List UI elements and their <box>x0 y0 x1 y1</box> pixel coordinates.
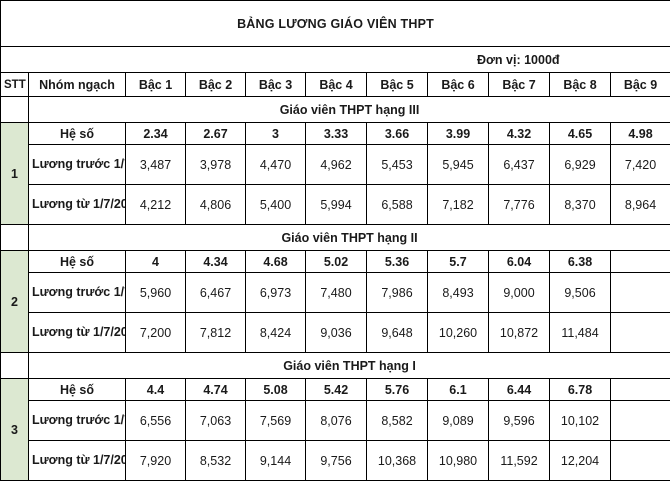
before-bac-7: 9,000 <box>489 273 550 313</box>
row-label-luong-truoc: Lương trước 1/7/2023 <box>29 273 126 313</box>
section-title-row: Giáo viên THPT hạng II <box>1 225 670 251</box>
section-title-row: Giáo viên THPT hạng III <box>1 97 670 123</box>
unit-spacer <box>1 47 367 73</box>
before-bac-5: 5,453 <box>367 145 428 185</box>
heso-bac-7: 4.32 <box>489 123 550 145</box>
heso-bac-5: 5.76 <box>367 379 428 401</box>
section-title-row: Giáo viên THPT hạng I <box>1 353 670 379</box>
from-bac-5: 6,588 <box>367 185 428 225</box>
salary-table-body: BẢNG LƯƠNG GIÁO VIÊN THPT Đơn vị: 1000đ … <box>1 1 670 481</box>
heso-bac-6: 6.1 <box>428 379 489 401</box>
row-label-luong-tu: Lương từ 1/7/2023 <box>29 313 126 353</box>
unit-row: Đơn vị: 1000đ <box>1 47 670 73</box>
from-bac-1: 4,212 <box>126 185 186 225</box>
table-row: Lương trước 1/7/2023 3,487 3,978 4,470 4… <box>1 145 670 185</box>
heso-bac-7: 6.44 <box>489 379 550 401</box>
heso-row: 1 Hệ số 2.34 2.67 3 3.33 3.66 3.99 4.32 … <box>1 123 670 145</box>
row-label-luong-tu: Lương từ 1/7/2023 <box>29 185 126 225</box>
from-bac-2: 4,806 <box>186 185 246 225</box>
heso-bac-6: 3.99 <box>428 123 489 145</box>
from-bac-7: 11,592 <box>489 441 550 481</box>
from-bac-8: 8,370 <box>550 185 611 225</box>
row-label-heso: Hệ số <box>29 379 126 401</box>
before-bac-4: 8,076 <box>306 401 367 441</box>
heso-bac-9: 4.98 <box>611 123 670 145</box>
before-bac-2: 7,063 <box>186 401 246 441</box>
unit-note: Đơn vị: 1000đ <box>367 47 670 73</box>
stt-spacer <box>1 353 29 379</box>
from-bac-2: 7,812 <box>186 313 246 353</box>
from-bac-2: 8,532 <box>186 441 246 481</box>
table-row: Lương từ 1/7/2023 4,212 4,806 5,400 5,99… <box>1 185 670 225</box>
heso-bac-8: 4.65 <box>550 123 611 145</box>
column-header-bac-9: Bậc 9 <box>611 73 670 97</box>
before-bac-8: 9,506 <box>550 273 611 313</box>
before-bac-4: 7,480 <box>306 273 367 313</box>
heso-bac-4: 5.02 <box>306 251 367 273</box>
from-bac-4: 9,036 <box>306 313 367 353</box>
heso-bac-1: 4 <box>126 251 186 273</box>
table-row: Lương từ 1/7/2023 7,200 7,812 8,424 9,03… <box>1 313 670 353</box>
row-label-luong-truoc: Lương trước 1/7/2023 <box>29 145 126 185</box>
from-bac-3: 5,400 <box>246 185 306 225</box>
from-bac-6: 10,980 <box>428 441 489 481</box>
stt-value-1: 1 <box>1 123 29 225</box>
before-bac-9: 7,420 <box>611 145 670 185</box>
before-bac-1: 5,960 <box>126 273 186 313</box>
table-row: Lương trước 1/7/2023 6,556 7,063 7,569 8… <box>1 401 670 441</box>
before-bac-9 <box>611 401 670 441</box>
page-title: BẢNG LƯƠNG GIÁO VIÊN THPT <box>1 1 670 47</box>
before-bac-7: 9,596 <box>489 401 550 441</box>
stt-value-2: 2 <box>1 251 29 353</box>
column-header-bac-7: Bậc 7 <box>489 73 550 97</box>
from-bac-6: 7,182 <box>428 185 489 225</box>
before-bac-6: 8,493 <box>428 273 489 313</box>
heso-bac-5: 3.66 <box>367 123 428 145</box>
heso-bac-9 <box>611 379 670 401</box>
heso-bac-3: 3 <box>246 123 306 145</box>
before-bac-3: 7,569 <box>246 401 306 441</box>
title-row: BẢNG LƯƠNG GIÁO VIÊN THPT <box>1 1 670 47</box>
heso-bac-8: 6.78 <box>550 379 611 401</box>
column-header-bac-4: Bậc 4 <box>306 73 367 97</box>
spreadsheet-canvas: BẢNG LƯƠNG GIÁO VIÊN THPT Đơn vị: 1000đ … <box>0 0 670 472</box>
from-bac-1: 7,920 <box>126 441 186 481</box>
column-header-stt: STT <box>1 73 29 97</box>
heso-row: 2 Hệ số 4 4.34 4.68 5.02 5.36 5.7 6.04 6… <box>1 251 670 273</box>
from-bac-8: 11,484 <box>550 313 611 353</box>
section-title-hang-ii: Giáo viên THPT hạng II <box>29 225 670 251</box>
heso-bac-6: 5.7 <box>428 251 489 273</box>
from-bac-9 <box>611 441 670 481</box>
heso-bac-3: 5.08 <box>246 379 306 401</box>
heso-bac-8: 6.38 <box>550 251 611 273</box>
from-bac-4: 5,994 <box>306 185 367 225</box>
table-row: Lương trước 1/7/2023 5,960 6,467 6,973 7… <box>1 273 670 313</box>
row-label-heso: Hệ số <box>29 123 126 145</box>
from-bac-5: 9,648 <box>367 313 428 353</box>
column-header-bac-3: Bậc 3 <box>246 73 306 97</box>
before-bac-5: 8,582 <box>367 401 428 441</box>
before-bac-1: 3,487 <box>126 145 186 185</box>
before-bac-8: 10,102 <box>550 401 611 441</box>
heso-bac-9 <box>611 251 670 273</box>
from-bac-8: 12,204 <box>550 441 611 481</box>
from-bac-9 <box>611 313 670 353</box>
from-bac-3: 9,144 <box>246 441 306 481</box>
heso-bac-3: 4.68 <box>246 251 306 273</box>
heso-bac-7: 6.04 <box>489 251 550 273</box>
before-bac-8: 6,929 <box>550 145 611 185</box>
from-bac-3: 8,424 <box>246 313 306 353</box>
before-bac-2: 3,978 <box>186 145 246 185</box>
from-bac-4: 9,756 <box>306 441 367 481</box>
from-bac-9: 8,964 <box>611 185 670 225</box>
column-header-bac-8: Bậc 8 <box>550 73 611 97</box>
from-bac-6: 10,260 <box>428 313 489 353</box>
before-bac-6: 5,945 <box>428 145 489 185</box>
section-title-hang-iii: Giáo viên THPT hạng III <box>29 97 670 123</box>
heso-bac-2: 4.34 <box>186 251 246 273</box>
table-row: Lương từ 1/7/2023 7,920 8,532 9,144 9,75… <box>1 441 670 481</box>
column-header-bac-2: Bậc 2 <box>186 73 246 97</box>
row-label-luong-tu: Lương từ 1/7/2023 <box>29 441 126 481</box>
heso-bac-1: 4.4 <box>126 379 186 401</box>
heso-bac-5: 5.36 <box>367 251 428 273</box>
column-header-bac-5: Bậc 5 <box>367 73 428 97</box>
column-header-bac-6: Bậc 6 <box>428 73 489 97</box>
heso-bac-2: 4.74 <box>186 379 246 401</box>
heso-row: 3 Hệ số 4.4 4.74 5.08 5.42 5.76 6.1 6.44… <box>1 379 670 401</box>
before-bac-3: 4,470 <box>246 145 306 185</box>
heso-bac-1: 2.34 <box>126 123 186 145</box>
heso-bac-4: 3.33 <box>306 123 367 145</box>
before-bac-3: 6,973 <box>246 273 306 313</box>
before-bac-7: 6,437 <box>489 145 550 185</box>
column-header-nhom-ngach: Nhóm ngạch <box>29 73 126 97</box>
salary-table: BẢNG LƯƠNG GIÁO VIÊN THPT Đơn vị: 1000đ … <box>0 0 670 481</box>
section-title-hang-i: Giáo viên THPT hạng I <box>29 353 670 379</box>
from-bac-5: 10,368 <box>367 441 428 481</box>
stt-value-3: 3 <box>1 379 29 481</box>
before-bac-9 <box>611 273 670 313</box>
from-bac-1: 7,200 <box>126 313 186 353</box>
before-bac-6: 9,089 <box>428 401 489 441</box>
before-bac-2: 6,467 <box>186 273 246 313</box>
before-bac-5: 7,986 <box>367 273 428 313</box>
from-bac-7: 7,776 <box>489 185 550 225</box>
before-bac-1: 6,556 <box>126 401 186 441</box>
heso-bac-4: 5.42 <box>306 379 367 401</box>
from-bac-7: 10,872 <box>489 313 550 353</box>
stt-spacer <box>1 225 29 251</box>
column-header-row: STT Nhóm ngạch Bậc 1 Bậc 2 Bậc 3 Bậc 4 B… <box>1 73 670 97</box>
stt-spacer <box>1 97 29 123</box>
column-header-bac-1: Bậc 1 <box>126 73 186 97</box>
row-label-heso: Hệ số <box>29 251 126 273</box>
before-bac-4: 4,962 <box>306 145 367 185</box>
heso-bac-2: 2.67 <box>186 123 246 145</box>
row-label-luong-truoc: Lương trước 1/7/2023 <box>29 401 126 441</box>
